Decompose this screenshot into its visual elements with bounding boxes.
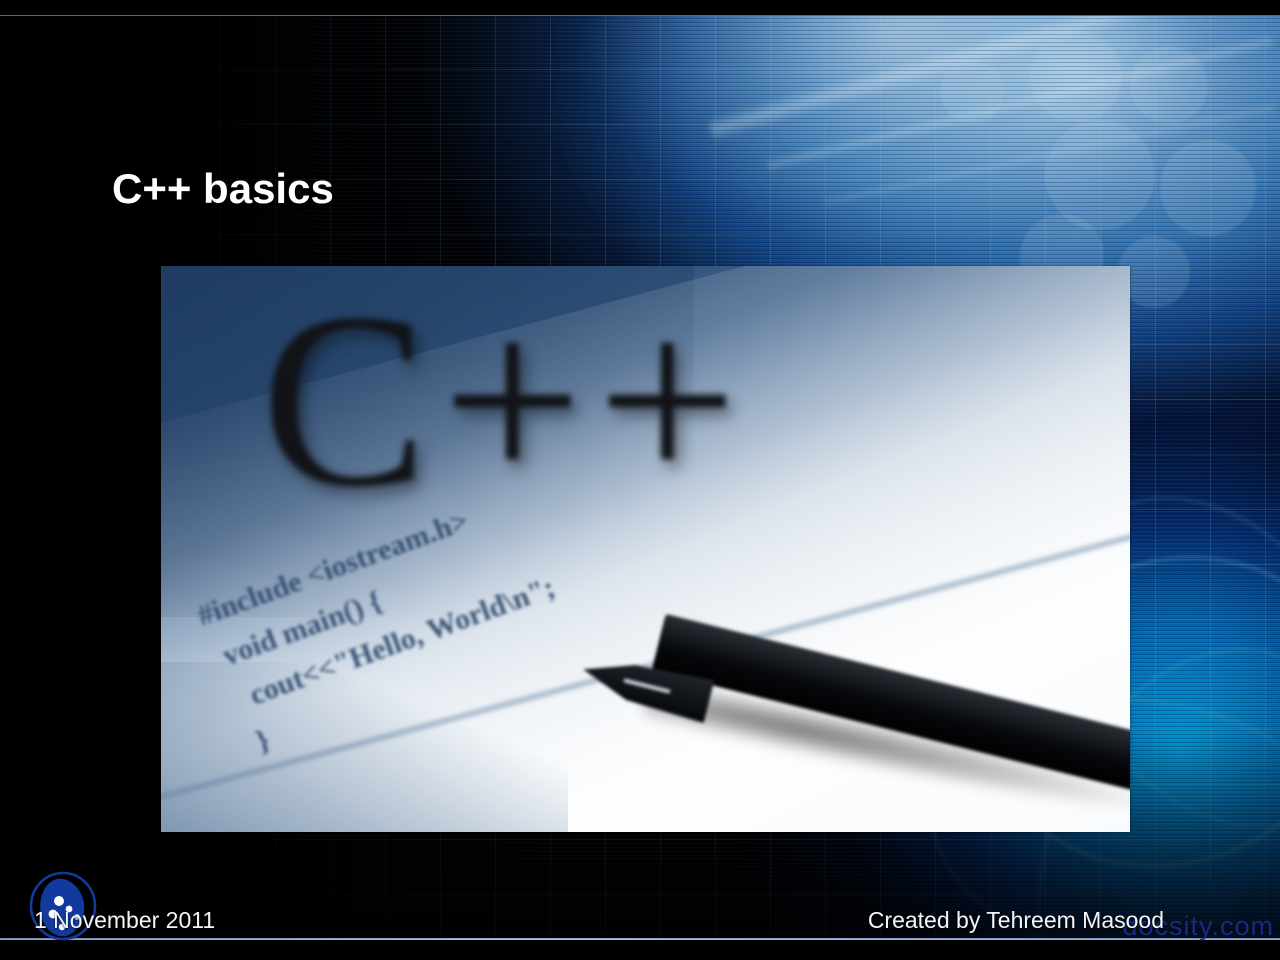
presentation-slide: C++ basics C++ #include <iostream.h> voi… <box>0 0 1280 960</box>
fountain-pen-icon <box>581 658 1130 808</box>
cpp-headline-glyph: C++ <box>261 276 1021 556</box>
top-letterbox-band <box>0 0 1280 16</box>
bottom-letterbox-band <box>0 939 1280 960</box>
footer-separator <box>0 938 1280 940</box>
slide-title: C++ basics <box>112 165 334 213</box>
slide-image: C++ #include <iostream.h> void main() { … <box>161 266 1130 832</box>
footer-date: 1 November 2011 <box>34 907 215 934</box>
footer-author: Created by Tehreem Masood <box>868 907 1164 934</box>
